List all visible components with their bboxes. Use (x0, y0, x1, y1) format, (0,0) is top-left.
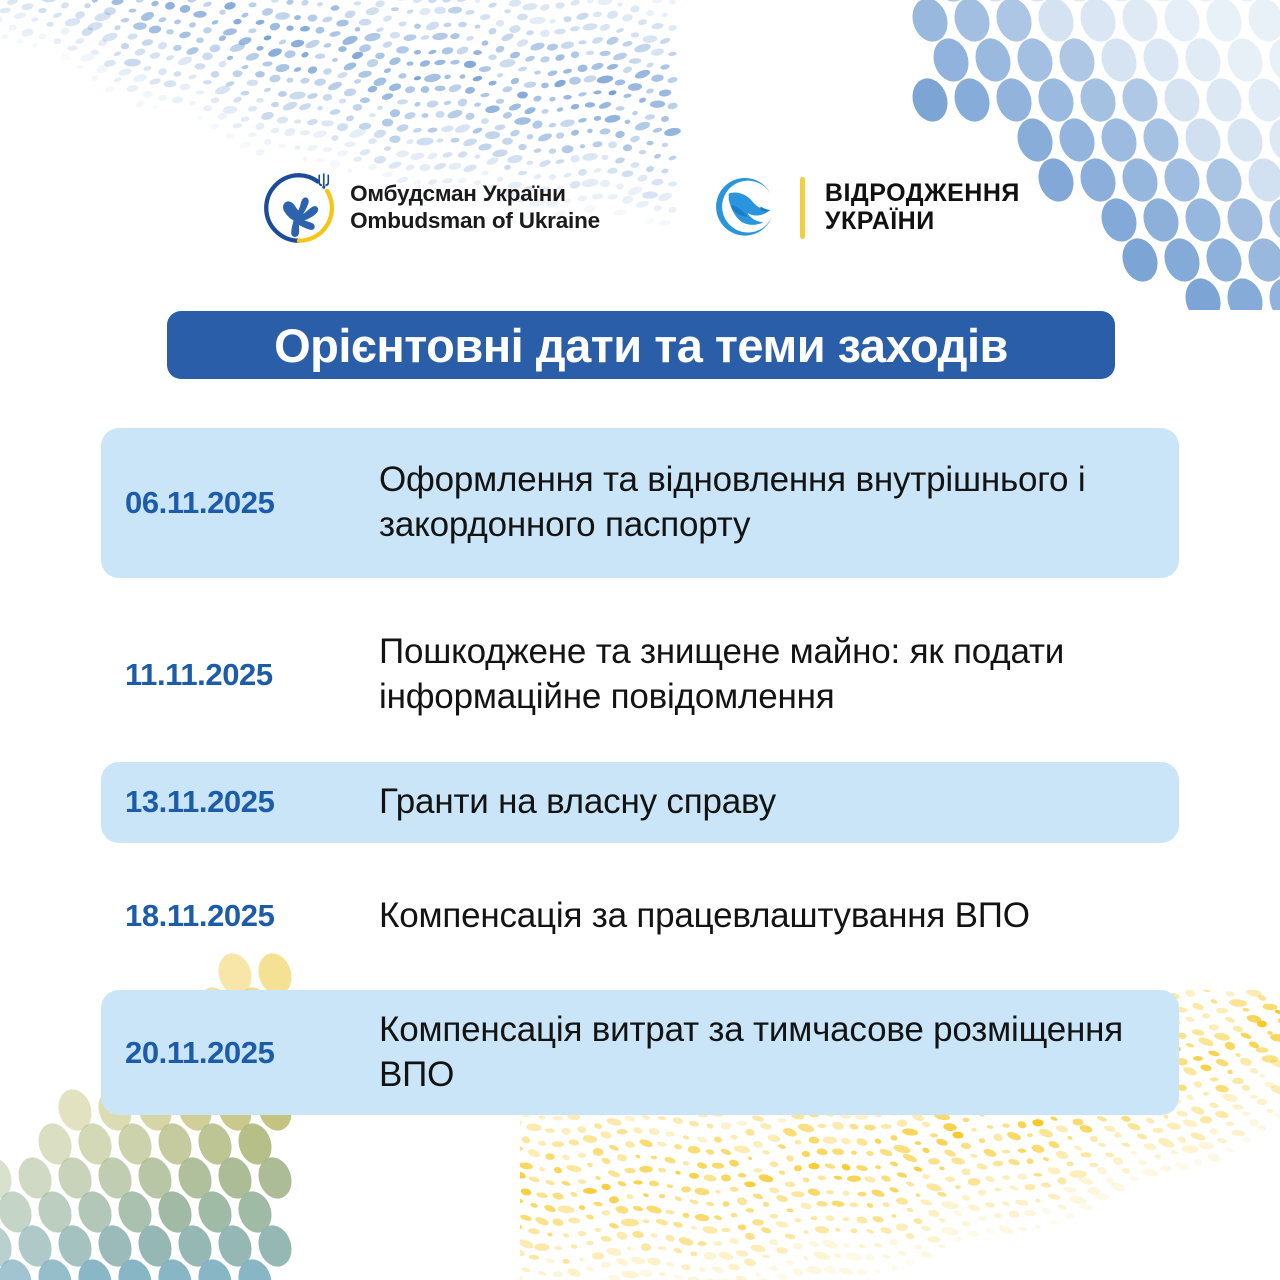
vidrodzhennya-wordmark: ВІДРОДЖЕННЯ УКРАЇНИ (825, 180, 1020, 235)
schedule-row-topic: Оформлення та відновлення внутрішнього і… (379, 458, 1179, 548)
schedule-row: 20.11.2025 Компенсація витрат за тимчасо… (101, 990, 1179, 1116)
vidrodzhennya-line-2: УКРАЇНИ (825, 208, 1020, 236)
poster-canvas: Омбудсман України Ombudsman of Ukraine В… (0, 0, 1280, 1280)
logo-bar: Омбудсман України Ombudsman of Ukraine В… (0, 160, 1280, 255)
schedule-row: 11.11.2025 Пошкоджене та знищене майно: … (101, 600, 1179, 750)
schedule-row-topic: Компенсація за працевлаштування ВПО (379, 894, 1179, 939)
schedule-row-topic: Компенсація витрат за тимчасове розміщен… (379, 1008, 1179, 1098)
row-gap (0, 843, 1280, 865)
row-gap (0, 968, 1280, 990)
schedule-row-topic: Гранти на власну справу (379, 780, 1179, 825)
decorative-dots-top-right (900, 0, 1280, 310)
schedule-row: 13.11.2025 Гранти на власну справу (101, 762, 1179, 843)
schedule-row-topic: Пошкоджене та знищене майно: як подати і… (379, 630, 1179, 720)
ombudsman-wordmark: Омбудсман України Ombudsman of Ukraine (350, 181, 600, 234)
logo-vidrodzhennya: ВІДРОДЖЕННЯ УКРАЇНИ (710, 172, 1020, 244)
schedule-row: 18.11.2025 Компенсація за працевлаштуван… (101, 865, 1179, 968)
logo-ombudsman: Омбудсман України Ombudsman of Ukraine (260, 169, 600, 247)
schedule-row-date: 13.11.2025 (101, 784, 379, 820)
schedule-row-date: 06.11.2025 (101, 485, 379, 521)
ombudsman-dove-emblem-icon (260, 169, 338, 247)
logo-divider (800, 177, 805, 239)
vidrodzhennya-line-1: ВІДРОДЖЕННЯ (825, 180, 1020, 208)
ombudsman-name-en: Ombudsman of Ukraine (350, 208, 600, 235)
page-title: Орієнтовні дати та теми заходів (274, 322, 1008, 369)
row-gap (0, 578, 1280, 600)
schedule-list: 06.11.2025 Оформлення та відновлення вну… (0, 428, 1280, 1115)
vidrodzhennya-phoenix-emblem-icon (710, 172, 782, 244)
schedule-row-date: 18.11.2025 (101, 898, 379, 934)
row-gap (0, 750, 1280, 762)
schedule-row-date: 20.11.2025 (101, 1035, 379, 1071)
ombudsman-name-uk: Омбудсман України (350, 181, 600, 208)
title-banner: Орієнтовні дати та теми заходів (167, 311, 1115, 379)
schedule-row: 06.11.2025 Оформлення та відновлення вну… (101, 428, 1179, 578)
schedule-row-date: 11.11.2025 (101, 657, 379, 693)
